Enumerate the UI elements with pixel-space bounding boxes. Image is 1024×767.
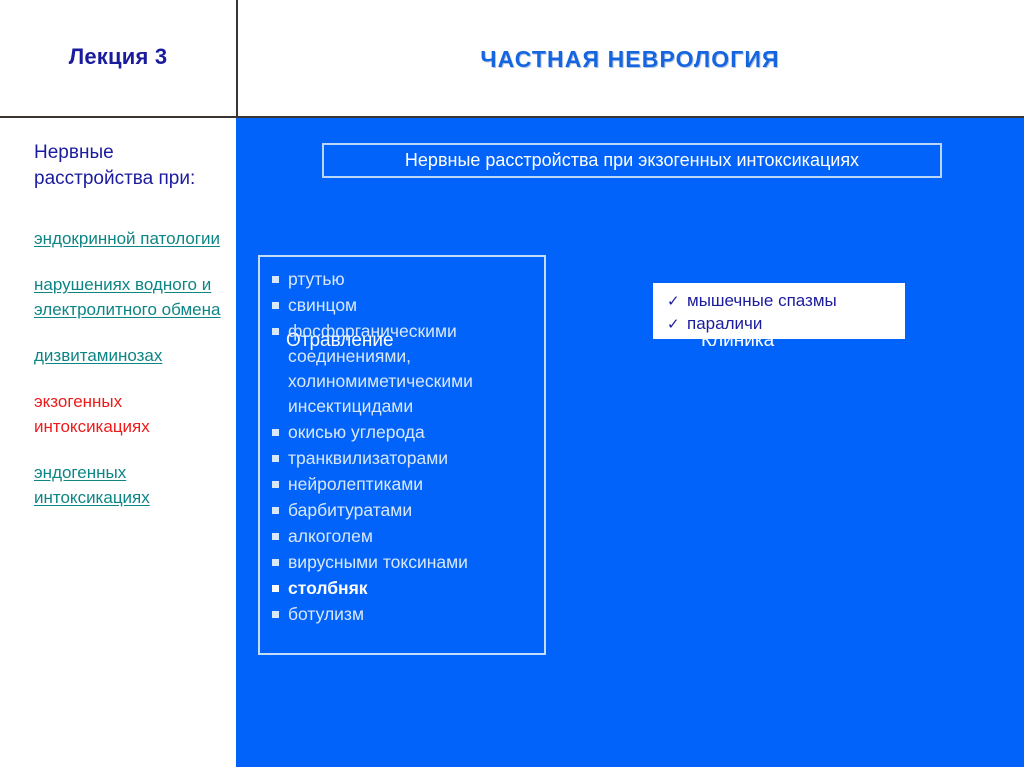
square-bullet-icon <box>272 328 279 335</box>
list-item: транквилизаторами <box>270 446 538 471</box>
checkmark-icon: ✓ <box>667 291 687 313</box>
list-item: фосфорганическими соединениями, холиноми… <box>270 319 538 419</box>
clinic-list-box: ✓ мышечные спазмы ✓ параличи <box>653 283 905 339</box>
square-bullet-icon <box>272 276 279 283</box>
list-item-label: мышечные спазмы <box>687 290 837 312</box>
list-item: барбитуратами <box>270 498 538 523</box>
list-item: алкоголем <box>270 524 538 549</box>
list-item: вирусными токсинами <box>270 550 538 575</box>
sidebar-item-endocrine[interactable]: эндокринной патологии <box>34 226 230 251</box>
page-title: ЧАСТНАЯ НЕВРОЛОГИЯ <box>236 46 1024 73</box>
square-bullet-icon <box>272 559 279 566</box>
slide-header: Лекция 3 ЧАСТНАЯ НЕВРОЛОГИЯ <box>0 0 1024 118</box>
square-bullet-icon <box>272 507 279 514</box>
checkmark-icon: ✓ <box>667 314 687 336</box>
list-item-label: окисью углерода <box>288 420 538 445</box>
square-bullet-icon <box>272 481 279 488</box>
list-item: нейролептиками <box>270 472 538 497</box>
list-item-label: ртутью <box>288 267 538 292</box>
section-banner-text: Нервные расстройства при экзогенных инто… <box>405 150 859 171</box>
list-item-label: транквилизаторами <box>288 446 538 471</box>
slide-root: Лекция 3 ЧАСТНАЯ НЕВРОЛОГИЯ Нервные расс… <box>0 0 1024 767</box>
square-bullet-icon <box>272 533 279 540</box>
list-item-label: нейролептиками <box>288 472 538 497</box>
poison-list-box: ртутью свинцом фосфорганическими соедине… <box>258 255 546 655</box>
sidebar-heading: Нервные расстройства при: <box>34 140 224 192</box>
square-bullet-icon <box>272 585 279 592</box>
list-item: ✓ мышечные спазмы <box>667 290 905 313</box>
square-bullet-icon <box>272 455 279 462</box>
sidebar-item-exogenous-intoxication[interactable]: экзогенных интоксикациях <box>34 389 230 439</box>
list-item: окисью углерода <box>270 420 538 445</box>
sidebar-item-dysvitaminosis[interactable]: дизвитаминозах <box>34 343 230 368</box>
square-bullet-icon <box>272 611 279 618</box>
list-item-label: фосфорганическими соединениями, холиноми… <box>288 319 538 419</box>
list-item-label: параличи <box>687 313 762 335</box>
lecture-label: Лекция 3 <box>0 44 236 70</box>
list-item: ✓ параличи <box>667 313 905 336</box>
square-bullet-icon <box>272 429 279 436</box>
sidebar-item-water-electrolyte[interactable]: нарушениях водного и электролитного обме… <box>34 272 230 322</box>
section-banner: Нервные расстройства при экзогенных инто… <box>322 143 942 178</box>
sidebar-nav-list: эндокринной патологии нарушениях водного… <box>34 226 230 531</box>
list-item-label: ботулизм <box>288 602 538 627</box>
list-item-label: барбитуратами <box>288 498 538 523</box>
sidebar: Нервные расстройства при: эндокринной па… <box>0 118 236 767</box>
list-item: свинцом <box>270 293 538 318</box>
list-item: ртутью <box>270 267 538 292</box>
list-item-label: свинцом <box>288 293 538 318</box>
list-item-label: столбняк <box>288 576 538 601</box>
list-item-label: алкоголем <box>288 524 538 549</box>
list-item-highlighted: столбняк <box>270 576 538 601</box>
list-item: ботулизм <box>270 602 538 627</box>
main-content-panel: Нервные расстройства при экзогенных инто… <box>236 118 1024 767</box>
square-bullet-icon <box>272 302 279 309</box>
sidebar-item-endogenous-intoxication[interactable]: эндогенных интоксикациях <box>34 460 230 510</box>
list-item-label: вирусными токсинами <box>288 550 538 575</box>
